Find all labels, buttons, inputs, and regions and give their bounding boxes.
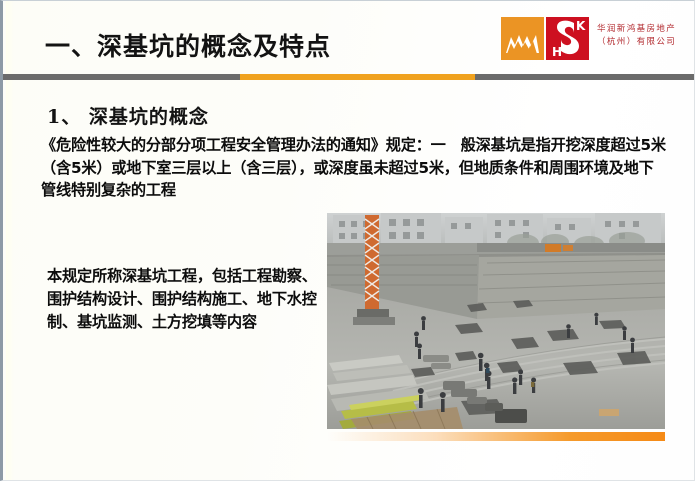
divider-segment-right [475, 74, 695, 80]
definition-paragraph: 《危险性较大的分部分项工程安全管理办法的通知》规定：一 般深基坑是指开挖深度超过… [41, 134, 666, 202]
logo-company-name: 华润新鸿基房地产 （杭州）有限公司 [597, 23, 687, 49]
svg-text:K: K [576, 19, 586, 33]
svg-text:H: H [552, 45, 562, 59]
section-subheading: 1、 深基坑的概念 [47, 102, 209, 129]
photo-accent-bar [327, 432, 665, 441]
logo-company-line-1: 华润新鸿基房地产 [597, 23, 687, 36]
page-title: 一、深基坑的概念及特点 [45, 27, 331, 63]
slide-header: 一、深基坑的概念及特点 K H 华润新鸿基房地产 （杭州）有限公司 [3, 1, 695, 74]
logo-m-icon [505, 27, 540, 54]
scope-callout-text: 本规定所称深基坑工程，包括工程勘察、围护结构设计、围护结构施工、地下水控制、基坑… [47, 265, 319, 334]
construction-site-illustration [327, 213, 665, 429]
slide-canvas: 一、深基坑的概念及特点 K H 华润新鸿基房地产 （杭州）有限公司 [0, 0, 695, 481]
logo-orange-square [501, 17, 544, 60]
logo-company-line-2: （杭州）有限公司 [597, 36, 687, 49]
construction-site-photo [327, 213, 665, 429]
divider-segment-left [3, 74, 240, 80]
logo-red-square: K H [546, 17, 589, 60]
logo-s-icon: K H [549, 18, 586, 59]
divider-segment-accent [240, 74, 475, 80]
company-logo: K H 华润新鸿基房地产 （杭州）有限公司 [501, 15, 685, 63]
header-divider [3, 74, 695, 80]
